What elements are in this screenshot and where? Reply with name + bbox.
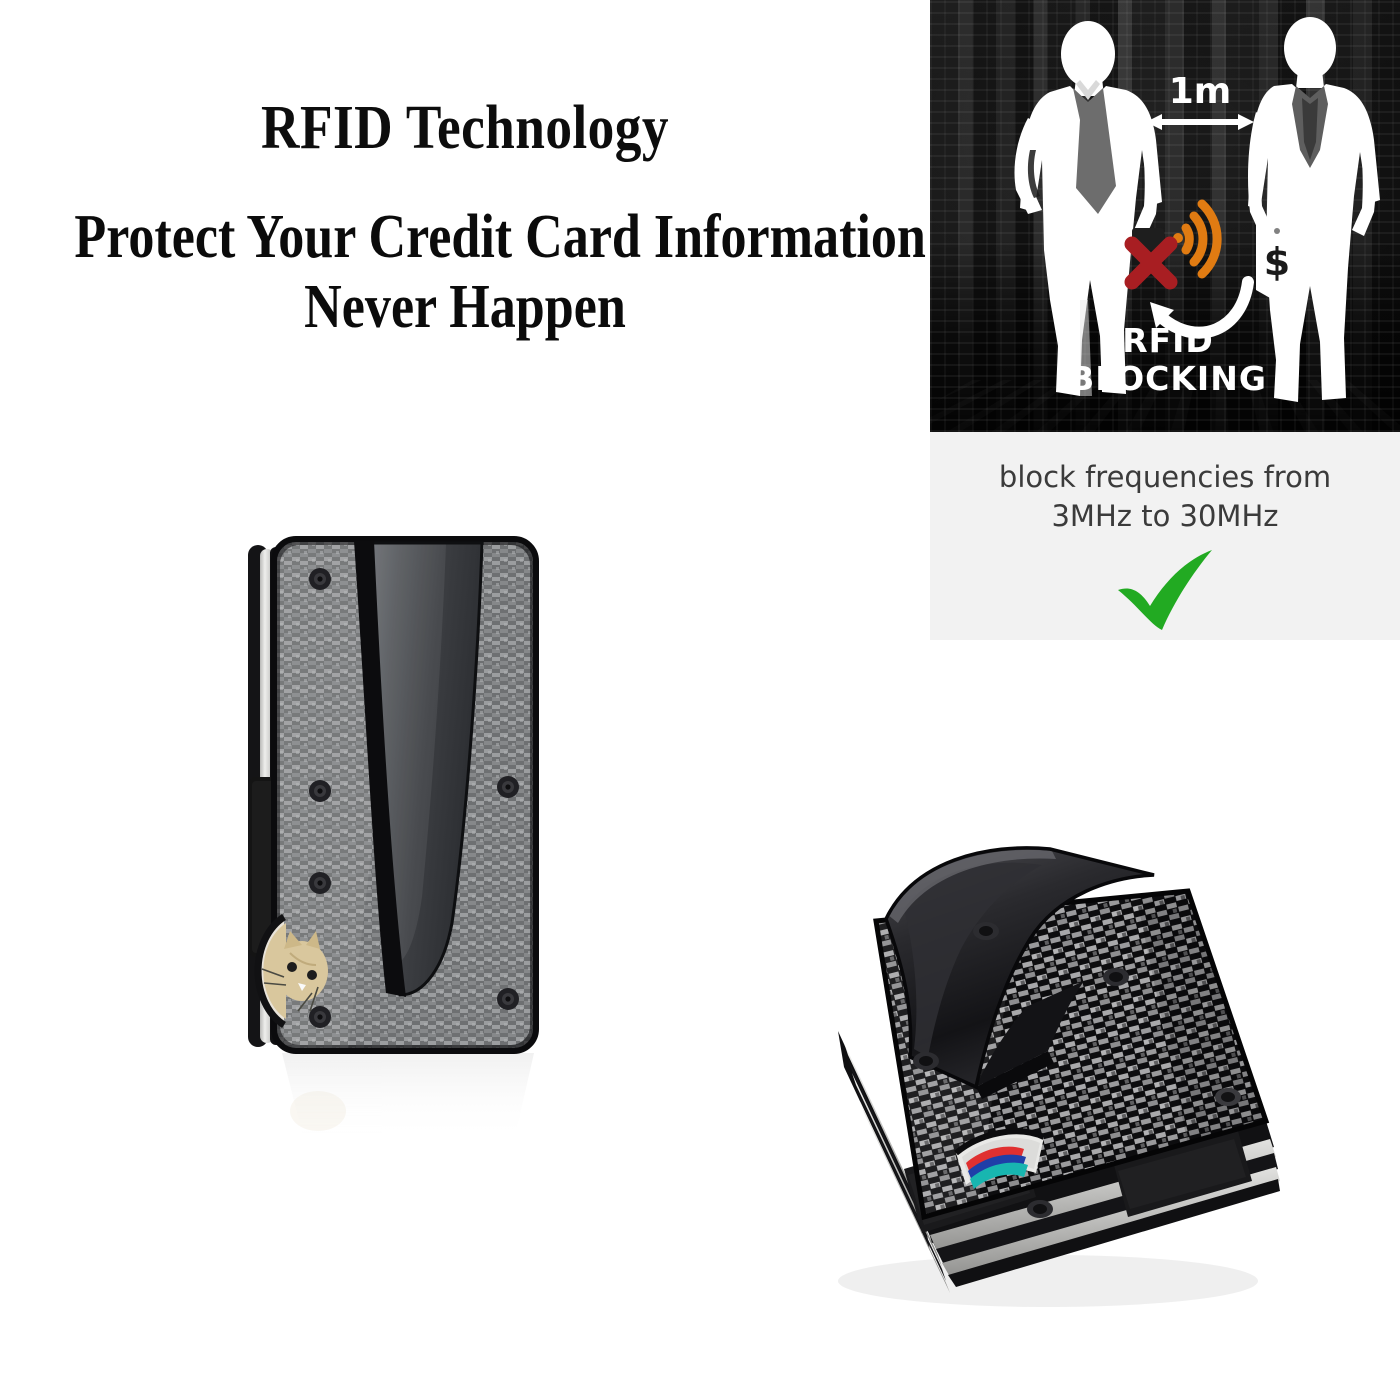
page-title: RFID Technology [65,96,865,161]
rfid-blocking-panel: $ 1m [930,0,1400,640]
wallet-front-svg [228,525,568,1165]
screw [1027,1200,1053,1218]
wallet-product-angled [718,835,1288,1325]
distance-indicator [1146,114,1254,130]
money-price-tag: $ [1256,222,1298,302]
wallet-angled-svg [718,835,1288,1325]
rfid-blocking-label-line1: RFID [1122,321,1214,360]
subtitle-line-1: Protect Your Credit Card Information [74,203,925,271]
screw [497,776,519,798]
wallet-reflection [282,1053,534,1141]
silhouette-thief: $ [1248,17,1380,402]
wallet-shadow [838,1255,1258,1307]
screw [1215,1088,1241,1106]
screw [497,988,519,1010]
headline-block: RFID Technology Protect Your Credit Card… [0,96,930,342]
money-tag-symbol: $ [1264,240,1290,284]
screw [913,1052,939,1070]
frequency-caption-line-1: block frequencies from [999,460,1331,494]
rfid-scene-svg: $ 1m [930,0,1400,432]
screw [309,1006,331,1028]
frequency-caption-line-2: 3MHz to 30MHz [930,497,1400,536]
wallet-product-front [228,525,568,1165]
page-subtitle: Protect Your Credit Card Information Nev… [74,203,855,342]
frequency-caption: block frequencies from 3MHz to 30MHz [930,458,1400,535]
rfid-blocking-label-line2: BLOCKING [1069,359,1267,398]
rfid-illustration: $ 1m [930,0,1400,432]
rfid-signal-waves [1173,204,1217,274]
subtitle-line-2: Never Happen [74,273,855,342]
checkmark-wrap [930,544,1400,636]
green-check-icon [1100,544,1230,636]
screw [1103,968,1129,986]
distance-label: 1m [1169,71,1232,112]
rfid-caption-strip: block frequencies from 3MHz to 30MHz [930,432,1400,640]
screw [309,568,331,590]
screw [309,872,331,894]
screw [309,780,331,802]
product-marketing-image: RFID Technology Protect Your Credit Card… [0,0,1400,1400]
screw [973,922,999,940]
